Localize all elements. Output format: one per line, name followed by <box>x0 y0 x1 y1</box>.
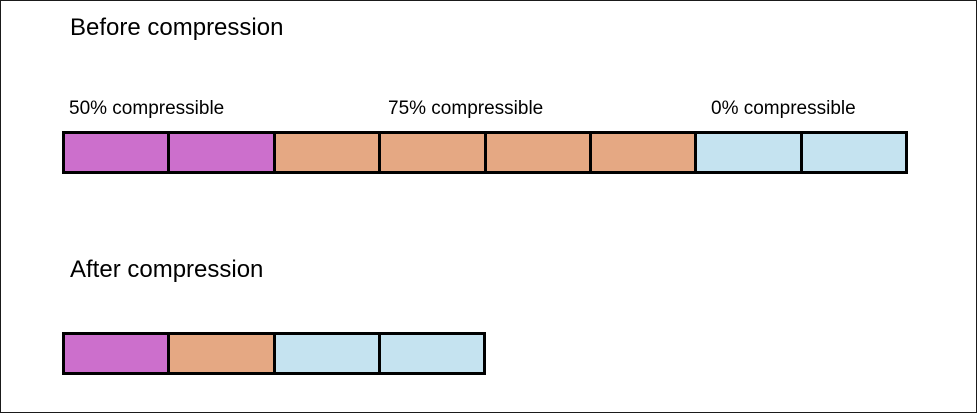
bar-segment <box>65 335 170 372</box>
bar-segment <box>65 134 170 171</box>
before-compression-title: Before compression <box>70 14 283 42</box>
diagram-canvas: Before compression 50% compressible75% c… <box>0 0 977 413</box>
group-label-2: 0% compressible <box>711 98 856 120</box>
after-compression-title: After compression <box>70 256 263 284</box>
bar-segment <box>276 134 381 171</box>
bar-segment <box>697 134 802 171</box>
group-label-1: 75% compressible <box>388 98 543 120</box>
bar-segment <box>170 335 275 372</box>
bar-segment <box>276 335 381 372</box>
bar-segment <box>381 134 486 171</box>
before-compression-bar <box>62 131 908 174</box>
bar-segment <box>381 335 483 372</box>
bar-segment <box>803 134 905 171</box>
bar-segment <box>487 134 592 171</box>
bar-segment <box>170 134 275 171</box>
bar-segment <box>592 134 697 171</box>
after-compression-bar <box>62 332 486 375</box>
group-label-0: 50% compressible <box>69 98 224 120</box>
